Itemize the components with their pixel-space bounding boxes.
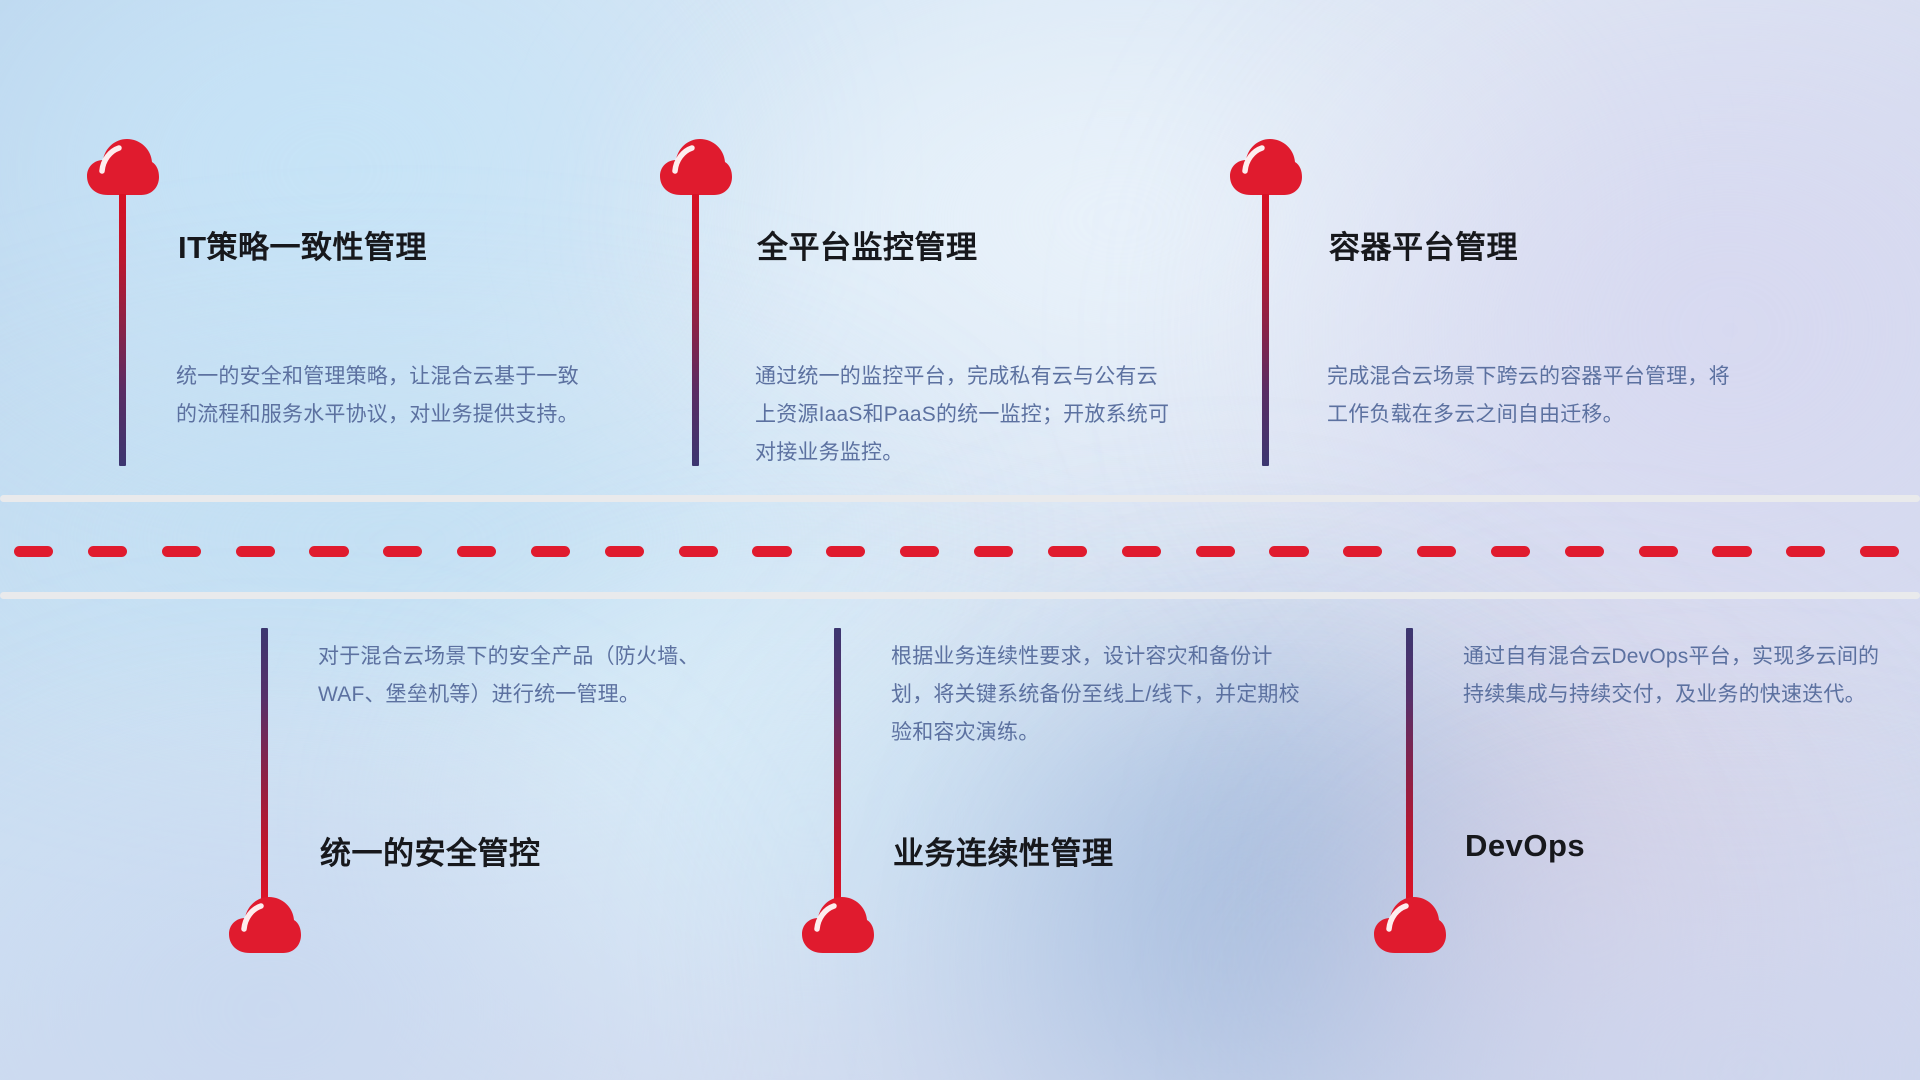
road-dash	[1417, 546, 1456, 557]
card-body: 根据业务连续性要求，设计容灾和备份计划，将关键系统备份至线上/线下，并定期校验和…	[891, 638, 1313, 752]
card-title: DevOps	[1465, 828, 1585, 864]
road-dash	[752, 546, 791, 557]
cloud-icon	[86, 137, 160, 197]
road-dash	[974, 546, 1013, 557]
road-dash	[457, 546, 496, 557]
card-body: 通过统一的监控平台，完成私有云与公有云上资源IaaS和PaaS的统一监控；开放系…	[755, 358, 1175, 472]
stem-line	[261, 628, 268, 906]
background-blob-lavender-lowerright	[1250, 760, 1920, 1080]
card-title: 全平台监控管理	[757, 222, 978, 267]
road-dash	[1343, 546, 1382, 557]
card-body: 完成混合云场景下跨云的容器平台管理，将工作负载在多云之间自由迁移。	[1327, 358, 1745, 434]
road-dash	[1048, 546, 1087, 557]
road-dash	[1860, 546, 1899, 557]
road-dash	[383, 546, 422, 557]
road-dash	[900, 546, 939, 557]
road-dash	[1565, 546, 1604, 557]
road-line-bottom	[0, 592, 1920, 599]
card-title: 统一的安全管控	[320, 828, 541, 873]
road-dash	[1491, 546, 1530, 557]
road-dash	[309, 546, 348, 557]
cloud-icon	[659, 137, 733, 197]
card-body: 通过自有混合云DevOps平台，实现多云间的持续集成与持续交付，及业务的快速迭代…	[1463, 638, 1883, 714]
road-dashed-centerline	[0, 546, 1920, 557]
card-body: 对于混合云场景下的安全产品（防火墙、WAF、堡垒机等）进行统一管理。	[318, 638, 738, 714]
stem-line	[119, 194, 126, 466]
cloud-icon	[801, 895, 875, 955]
cloud-icon	[1229, 137, 1303, 197]
stem-line	[834, 628, 841, 906]
road-dash	[679, 546, 718, 557]
stem-line	[1406, 628, 1413, 906]
stem-line	[1262, 194, 1269, 466]
road-dash	[1639, 546, 1678, 557]
background-blob-blue-lowerleft	[0, 700, 720, 1080]
infographic-canvas: IT策略一致性管理 统一的安全和管理策略，让混合云基于一致的流程和服务水平协议，…	[0, 0, 1920, 1080]
card-title: 业务连续性管理	[893, 828, 1114, 873]
road-dash	[1786, 546, 1825, 557]
road-dash	[14, 546, 53, 557]
road-dash	[236, 546, 275, 557]
stem-line	[692, 194, 699, 466]
background-blob-steelblue-center	[740, 540, 1720, 1080]
road-dash	[88, 546, 127, 557]
road-dash	[1122, 546, 1161, 557]
road-dash	[1196, 546, 1235, 557]
cloud-icon	[1373, 895, 1447, 955]
road-dash	[162, 546, 201, 557]
card-title: IT策略一致性管理	[178, 222, 427, 267]
card-body: 统一的安全和管理策略，让混合云基于一致的流程和服务水平协议，对业务提供支持。	[176, 358, 594, 434]
road-dash	[826, 546, 865, 557]
road-dash	[1269, 546, 1308, 557]
road-dash	[605, 546, 644, 557]
card-title: 容器平台管理	[1329, 222, 1518, 267]
road-dash	[531, 546, 570, 557]
cloud-icon	[228, 895, 302, 955]
road-line-top	[0, 495, 1920, 502]
road-dash	[1712, 546, 1751, 557]
